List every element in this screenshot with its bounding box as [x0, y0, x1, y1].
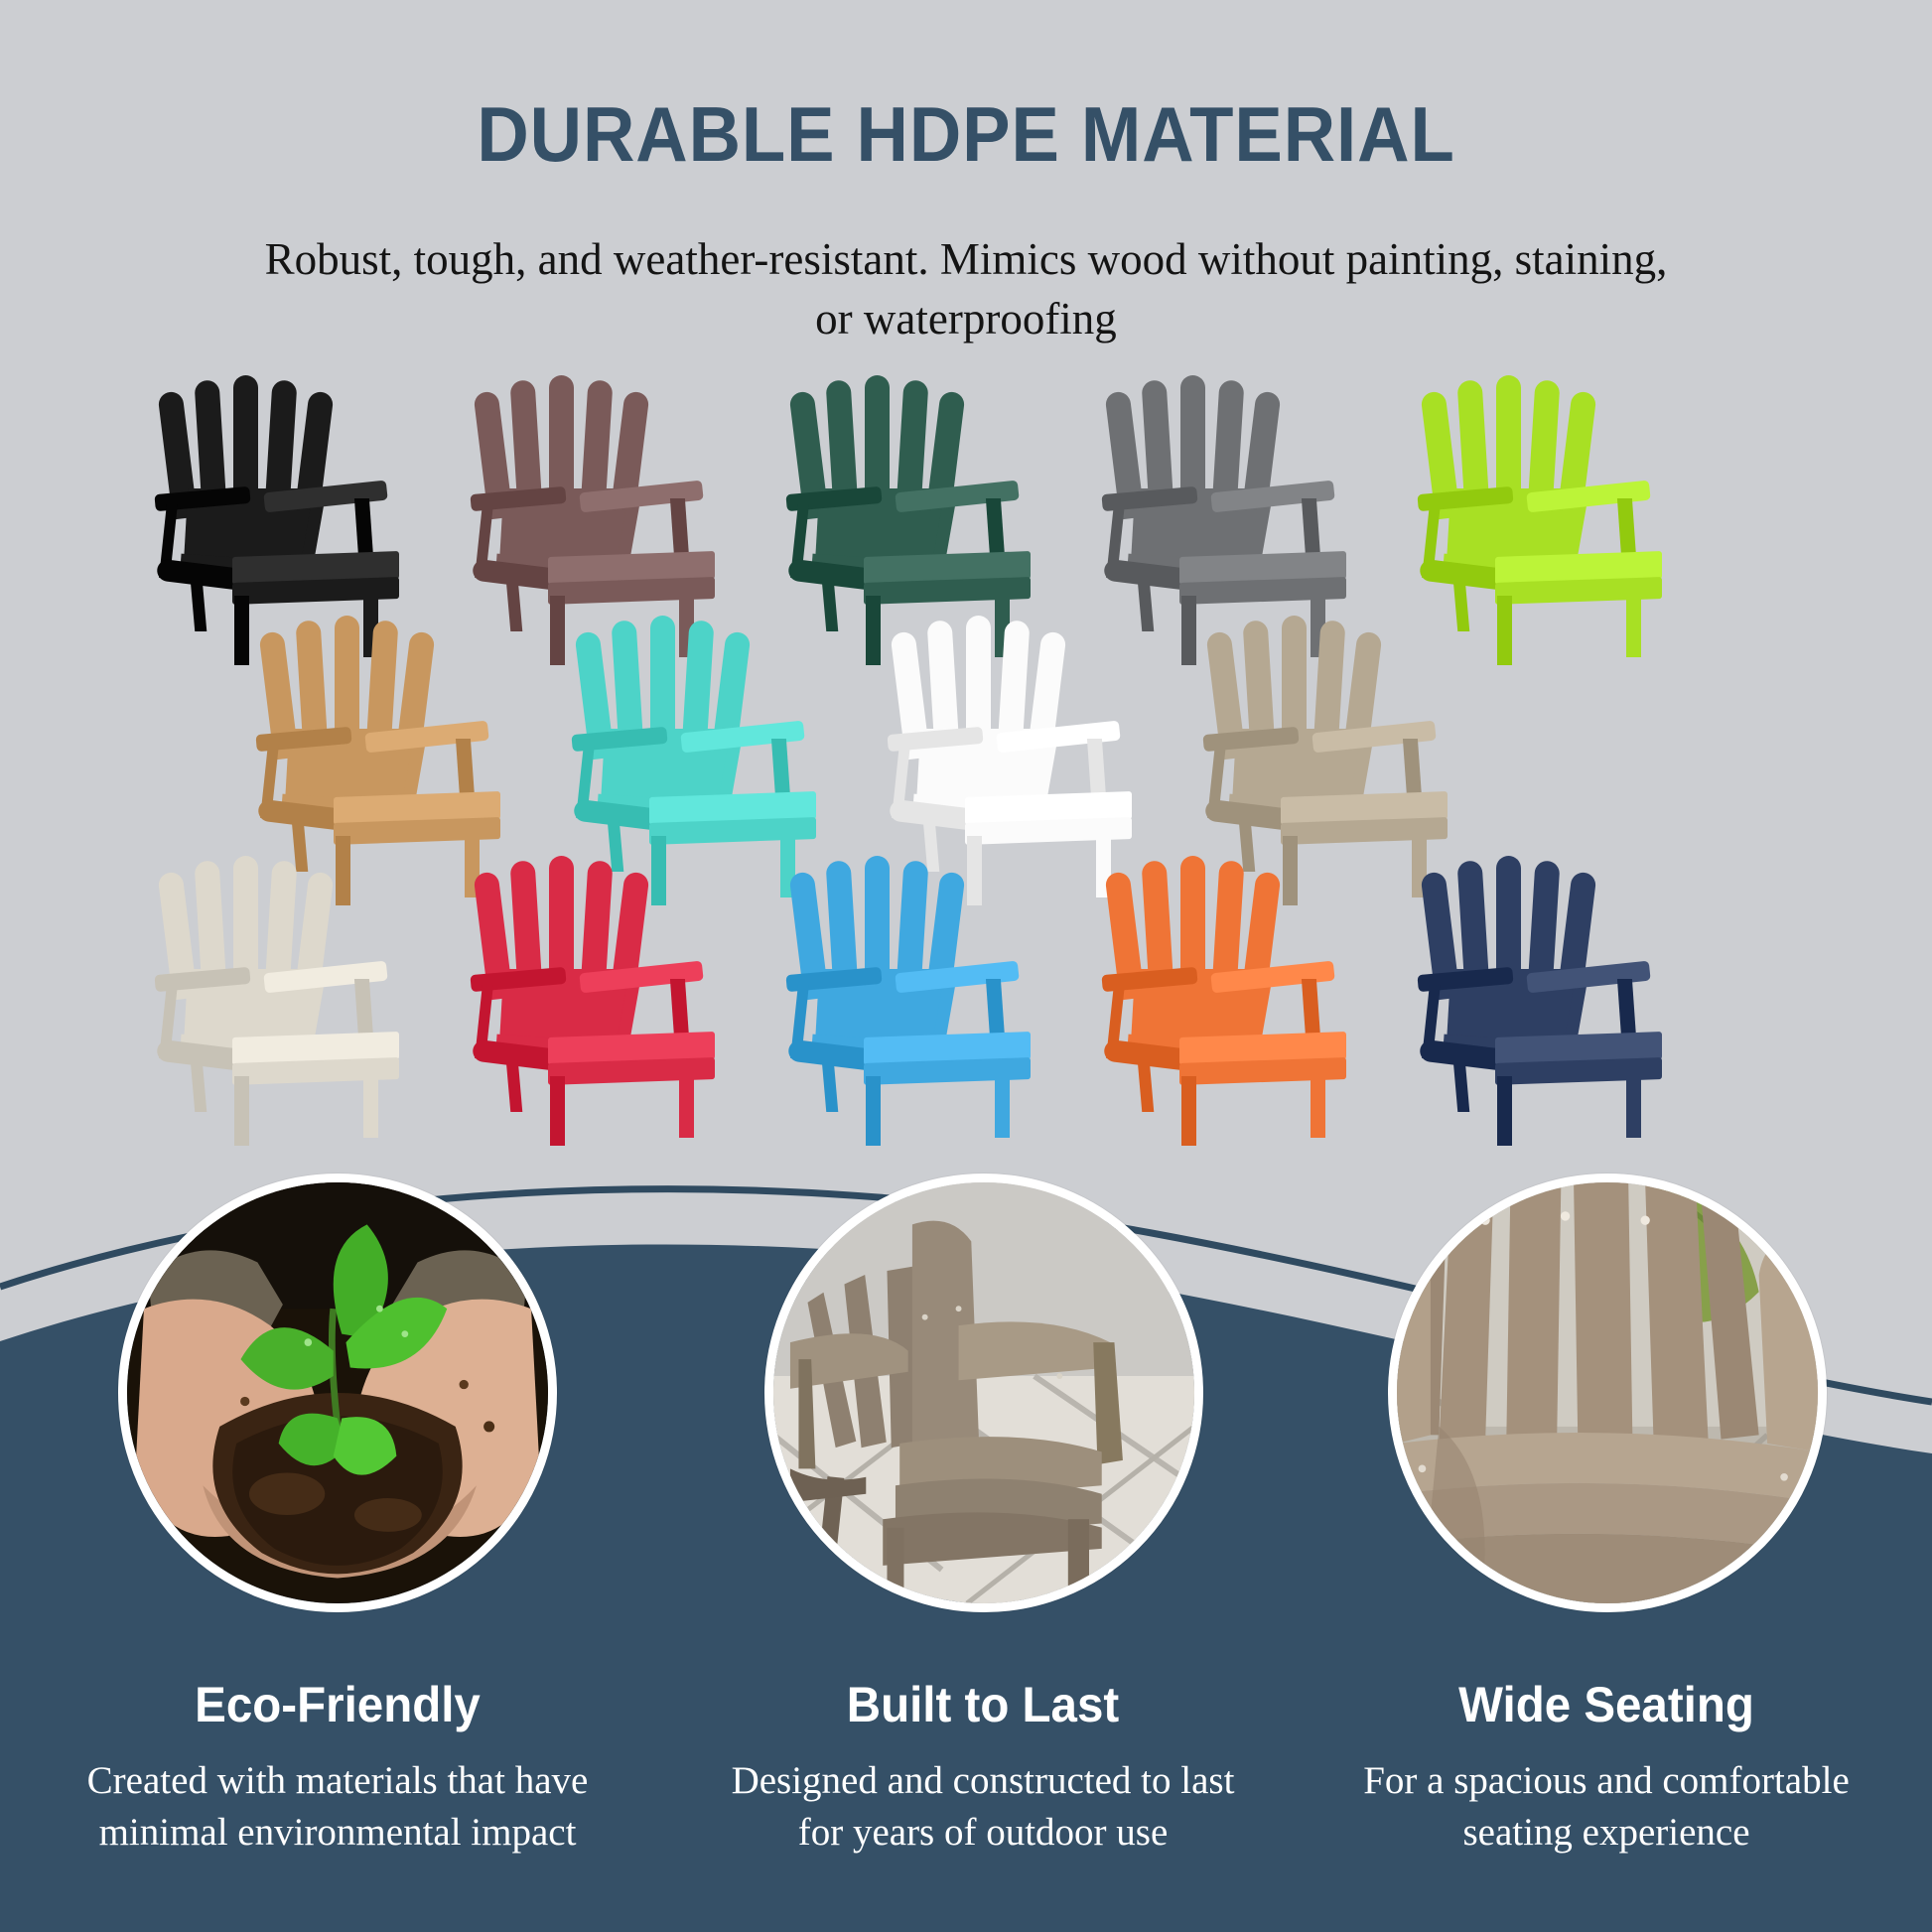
adirondack-chair-icon [564, 610, 880, 858]
feature-description-2: Designed and constructed to last for yea… [705, 1755, 1261, 1859]
adirondack-chair-icon [880, 610, 1195, 858]
adirondack-chair-icon [463, 850, 778, 1098]
chair-color-grid [0, 369, 1932, 1090]
adirondack-chair-icon [1094, 369, 1410, 618]
chair-swatch-lime-green[interactable] [1410, 369, 1725, 618]
adirondack-chair-icon [147, 369, 463, 618]
adirondack-chair-icon [778, 369, 1094, 618]
chair-row-1 [0, 369, 1932, 618]
adirondack-chair-icon [1094, 850, 1410, 1098]
adirondack-chair-on-patio-icon [773, 1182, 1194, 1603]
feature-description-3: For a spacious and comfortable seating e… [1328, 1755, 1884, 1859]
adirondack-chair-icon [147, 850, 463, 1098]
feature-block-2: Built to Last Designed and constructed t… [705, 1676, 1261, 1859]
chair-swatch-navy-blue[interactable] [1410, 850, 1725, 1098]
adirondack-chair-icon [778, 850, 1094, 1098]
adirondack-chair-icon [463, 369, 778, 618]
chair-swatch-black[interactable] [147, 369, 463, 618]
feature-photo-1 [118, 1173, 557, 1612]
page-subtitle: Robust, tough, and weather-resistant. Mi… [261, 230, 1671, 349]
chair-wide-seat-closeup-icon [1397, 1182, 1818, 1603]
chair-swatch-blue[interactable] [778, 850, 1094, 1098]
chair-swatch-white[interactable] [880, 610, 1195, 858]
feature-photo-3 [1388, 1173, 1827, 1612]
adirondack-chair-icon [248, 610, 564, 858]
feature-block-3: Wide Seating For a spacious and comforta… [1328, 1676, 1884, 1859]
feature-block-1: Eco-Friendly Created with materials that… [60, 1676, 616, 1859]
feature-heading-3: Wide Seating [1342, 1676, 1870, 1733]
chair-swatch-weathered-wood[interactable] [1195, 610, 1511, 858]
hands-holding-seedling-icon [127, 1182, 548, 1603]
feature-description-1: Created with materials that have minimal… [60, 1755, 616, 1859]
chair-swatch-turquoise[interactable] [564, 610, 880, 858]
chair-swatch-gray[interactable] [1094, 369, 1410, 618]
adirondack-chair-icon [1195, 610, 1511, 858]
adirondack-chair-icon [1410, 369, 1725, 618]
feature-heading-2: Built to Last [719, 1676, 1247, 1733]
feature-heading-1: Eco-Friendly [73, 1676, 602, 1733]
chair-row-3 [0, 850, 1932, 1098]
feature-photo-2 [764, 1173, 1203, 1612]
chair-swatch-teak[interactable] [248, 610, 564, 858]
adirondack-chair-icon [1410, 850, 1725, 1098]
chair-swatch-red[interactable] [463, 850, 778, 1098]
infographic-canvas: DURABLE HDPE MATERIAL Robust, tough, and… [0, 0, 1932, 1932]
chair-swatch-brown[interactable] [463, 369, 778, 618]
chair-swatch-ivory[interactable] [147, 850, 463, 1098]
chair-swatch-orange[interactable] [1094, 850, 1410, 1098]
chair-row-2 [0, 610, 1932, 858]
chair-swatch-dark-green[interactable] [778, 369, 1094, 618]
page-title: DURABLE HDPE MATERIAL [68, 94, 1864, 176]
